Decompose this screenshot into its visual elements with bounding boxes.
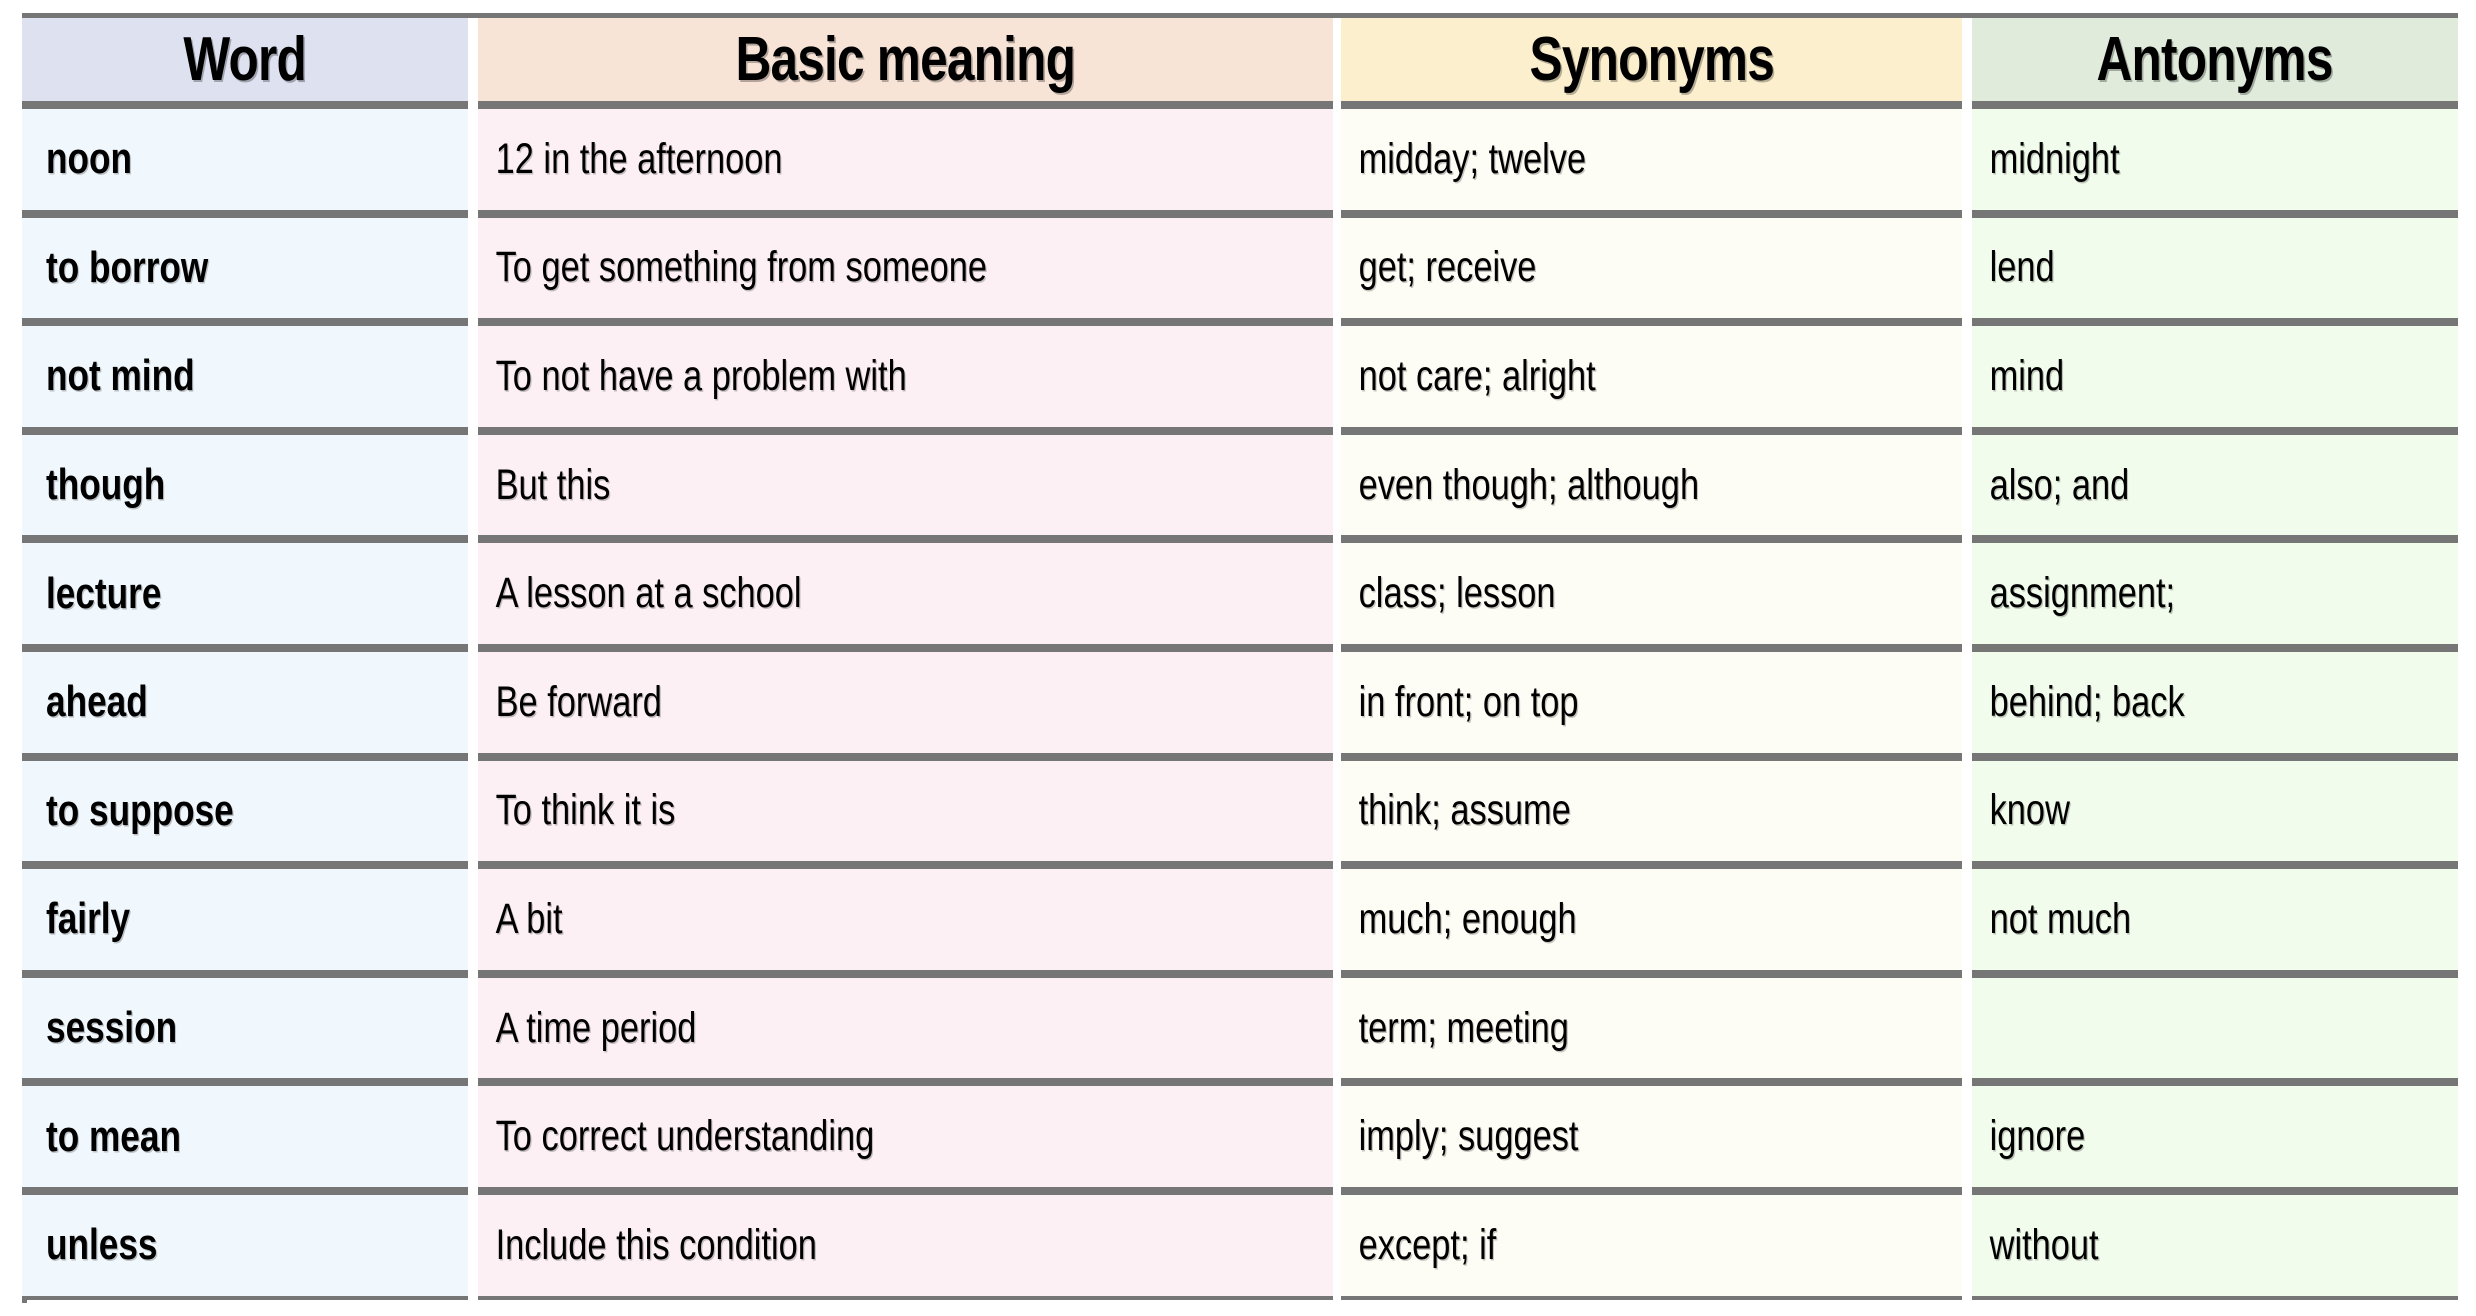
table-cell-meaning[interactable]: To correct understanding <box>478 1082 1333 1191</box>
table-cell-text: not care; alright <box>1341 355 1596 398</box>
table-cell-syn[interactable]: not care; alright <box>1341 322 1962 431</box>
table-cell-syn[interactable]: in front; on top <box>1341 648 1962 757</box>
table-cell-ant[interactable]: also; and <box>1972 431 2458 540</box>
table-cell-ant[interactable]: know <box>1972 757 2458 866</box>
table-cell-word[interactable]: to suppose <box>22 757 468 866</box>
table-cell-ant[interactable]: assignment; <box>1972 539 2458 648</box>
table-cell-text: to mean <box>22 1115 181 1159</box>
table-cell-text: to borrow <box>22 246 208 290</box>
table-cell-ant[interactable]: midnight <box>1972 105 2458 214</box>
table-cell-text: even though; although <box>1341 464 1699 507</box>
table-cell-text: fairly <box>22 897 130 941</box>
table-cell-text: to suppose <box>22 789 234 833</box>
column-header-ant[interactable]: Antonyms <box>1972 18 2458 105</box>
table-cell-text: noon <box>22 137 132 181</box>
table-cell-text: session <box>22 1006 177 1050</box>
table-cell-text: ahead <box>22 680 148 724</box>
table-cell-text: much; enough <box>1341 898 1577 941</box>
table-cell-text: midnight <box>1972 138 2120 181</box>
table-cell-meaning[interactable]: A time period <box>478 974 1333 1083</box>
table-cell-text: imply; suggest <box>1341 1115 1578 1158</box>
table-cell-text: think; assume <box>1341 789 1571 832</box>
table-cell-text: class; lesson <box>1341 572 1556 615</box>
table-cell-meaning[interactable]: But this <box>478 431 1333 540</box>
table-cell-text: mind <box>1972 355 2064 398</box>
table-cell-text: in front; on top <box>1341 681 1579 724</box>
table-cell-word[interactable]: noon <box>22 105 468 214</box>
table-cell-meaning[interactable]: To not have a problem with <box>478 322 1333 431</box>
table-cell-word[interactable]: session <box>22 974 468 1083</box>
table-cell-text: lend <box>1972 246 2055 289</box>
table-cell-syn[interactable]: midday; twelve <box>1341 105 1962 214</box>
table-cell-syn[interactable]: term; meeting <box>1341 974 1962 1083</box>
table-cell-text: A time period <box>478 1007 696 1050</box>
table-cell-meaning[interactable]: A lesson at a school <box>478 539 1333 648</box>
table-cell-syn[interactable]: much; enough <box>1341 865 1962 974</box>
vocabulary-table: WordBasic meaningSynonymsAntonymsnoon12 … <box>0 0 2476 1316</box>
column-header-meaning[interactable]: Basic meaning <box>478 18 1333 105</box>
table-cell-meaning[interactable]: Be forward <box>478 648 1333 757</box>
table-cell-word[interactable]: ahead <box>22 648 468 757</box>
table-cell-ant[interactable]: lend <box>1972 214 2458 323</box>
table-cell-meaning[interactable]: Include this condition <box>478 1191 1333 1300</box>
table-cell-syn[interactable]: get; receive <box>1341 214 1962 323</box>
table-cell-ant[interactable] <box>1972 974 2458 1083</box>
table-cell-text: unless <box>22 1223 158 1267</box>
table-cell-word[interactable]: lecture <box>22 539 468 648</box>
table-cell-text: To correct understanding <box>478 1115 874 1158</box>
table-cell-text: though <box>22 463 165 507</box>
table-cell-word[interactable]: fairly <box>22 865 468 974</box>
table-cell-text: Include this condition <box>478 1224 817 1267</box>
table-cell-text: get; receive <box>1341 246 1536 289</box>
table-cell-word[interactable]: unless <box>22 1191 468 1300</box>
table-cell-word[interactable]: to borrow <box>22 214 468 323</box>
table-cell-ant[interactable]: ignore <box>1972 1082 2458 1191</box>
table-cell-text: behind; back <box>1972 681 2185 724</box>
table-cell-text: To get something from someone <box>478 246 987 289</box>
column-header-syn[interactable]: Synonyms <box>1341 18 1962 105</box>
table-cell-text: A bit <box>478 898 563 941</box>
table-cell-ant[interactable]: mind <box>1972 322 2458 431</box>
table-cell-text: But this <box>478 464 610 507</box>
table-cell-text: ignore <box>1972 1115 2085 1158</box>
table-cell-syn[interactable]: except; if <box>1341 1191 1962 1300</box>
table-cell-text: 12 in the afternoon <box>478 138 783 181</box>
table-cell-text: Be forward <box>478 681 662 724</box>
column-header-label: Word <box>184 29 307 91</box>
table-cell-text: not much <box>1972 898 2131 941</box>
table-cell-word[interactable]: to mean <box>22 1082 468 1191</box>
table-cell-syn[interactable]: think; assume <box>1341 757 1962 866</box>
table-cell-text: A lesson at a school <box>478 572 802 615</box>
column-header-label: Synonyms <box>1529 29 1773 91</box>
table-cell-meaning[interactable]: To get something from someone <box>478 214 1333 323</box>
table-cell-ant[interactable]: without <box>1972 1191 2458 1300</box>
table-cell-text: To think it is <box>478 789 675 832</box>
table-cell-word[interactable]: not mind <box>22 322 468 431</box>
table-cell-meaning[interactable]: 12 in the afternoon <box>478 105 1333 214</box>
table-cell-meaning[interactable]: To think it is <box>478 757 1333 866</box>
column-header-label: Antonyms <box>2097 29 2333 91</box>
table-cell-meaning[interactable]: A bit <box>478 865 1333 974</box>
table-cell-text: term; meeting <box>1341 1007 1569 1050</box>
table-cell-text: also; and <box>1972 464 2129 507</box>
column-header-word[interactable]: Word <box>22 18 468 105</box>
table-cell-ant[interactable]: not much <box>1972 865 2458 974</box>
table-cell-text: midday; twelve <box>1341 138 1586 181</box>
table-cell-syn[interactable]: even though; although <box>1341 431 1962 540</box>
table-cell-ant[interactable]: behind; back <box>1972 648 2458 757</box>
table-cell-text: except; if <box>1341 1224 1496 1267</box>
table-cell-text: lecture <box>22 572 161 616</box>
table-cell-text: To not have a problem with <box>478 355 907 398</box>
table-cell-text: assignment; <box>1972 572 2175 615</box>
table-cell-text: know <box>1972 789 2070 832</box>
table-cell-syn[interactable]: class; lesson <box>1341 539 1962 648</box>
table-cell-word[interactable]: though <box>22 431 468 540</box>
table-cell-text: without <box>1972 1224 2099 1267</box>
table-cell-text: not mind <box>22 354 195 398</box>
table-cell-syn[interactable]: imply; suggest <box>1341 1082 1962 1191</box>
column-header-label: Basic meaning <box>736 29 1076 91</box>
